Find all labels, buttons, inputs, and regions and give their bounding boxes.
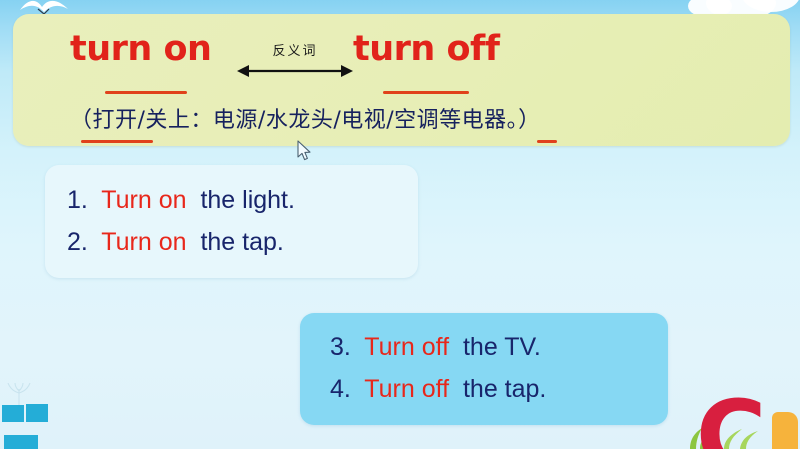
antonym-label: 反义词 — [235, 40, 355, 59]
list-item-text: the tap. — [200, 228, 283, 256]
book-icon — [26, 404, 48, 422]
stacked-books-icon — [2, 383, 74, 449]
chinese-note: （打开/关上：电源/水龙头/电视/空调等电器。） — [70, 106, 541, 136]
slide-canvas: turn on 反义词 turn off （打开/关上：电源/水龙头/电视/空调… — [0, 0, 800, 449]
list-item-highlight: Turn off — [364, 375, 456, 403]
list-item-number: 4. — [330, 375, 358, 403]
examples-card-turn-on: 1. Turn on the light. 2. Turn on the tap… — [45, 165, 418, 278]
list-item-text: the TV. — [463, 333, 541, 361]
underline-turn-on — [105, 91, 187, 94]
phrase-turn-on: turn on — [70, 28, 211, 70]
list-item-text: the light. — [200, 186, 295, 214]
list-item-number: 1. — [67, 186, 95, 214]
list-item: 3. Turn off the TV. — [330, 332, 541, 362]
list-item-text: the tap. — [463, 375, 546, 403]
list-item-number: 2. — [67, 228, 95, 256]
list-item: 4. Turn off the tap. — [330, 374, 546, 404]
list-item: 1. Turn on the light. — [67, 185, 295, 215]
list-item-number: 3. — [330, 333, 358, 361]
decorative-letter-c: C — [696, 388, 766, 449]
list-item-highlight: Turn on — [101, 186, 193, 214]
book-icon — [4, 435, 38, 449]
antonym-arrow-group: 反义词 — [235, 40, 355, 84]
underline-chinese-appliance — [537, 140, 557, 143]
underline-chinese-open-close — [81, 140, 153, 143]
list-item-highlight: Turn on — [101, 228, 193, 256]
phrase-turn-off: turn off — [353, 28, 500, 70]
book-icon — [2, 405, 24, 422]
list-item: 2. Turn on the tap. — [67, 227, 284, 257]
list-item-highlight: Turn off — [364, 333, 456, 361]
orange-decoration — [772, 412, 798, 449]
examples-card-turn-off: 3. Turn off the TV. 4. Turn off the tap. — [300, 313, 668, 425]
underline-turn-off — [383, 91, 469, 94]
double-headed-arrow-icon — [237, 62, 353, 80]
definition-banner: turn on 反义词 turn off （打开/关上：电源/水龙头/电视/空调… — [13, 14, 790, 146]
